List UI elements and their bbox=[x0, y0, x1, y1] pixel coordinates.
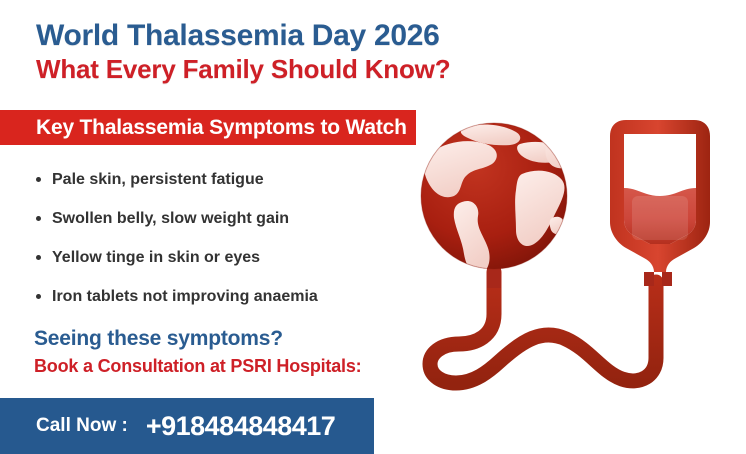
symptom-text: Iron tablets not improving anaemia bbox=[52, 288, 318, 305]
cta-question: Seeing these symptoms? bbox=[34, 327, 434, 351]
page-subtitle: What Every Family Should Know? bbox=[36, 55, 506, 84]
list-item: Yellow tinge in skin or eyes bbox=[34, 238, 414, 277]
globe-icon bbox=[421, 123, 580, 274]
symptoms-banner-label: Key Thalassemia Symptoms to Watch bbox=[0, 116, 407, 140]
illustration-svg bbox=[404, 96, 746, 396]
list-item: Pale skin, persistent fatigue bbox=[34, 160, 414, 199]
symptom-text: Swollen belly, slow weight gain bbox=[52, 210, 289, 227]
headline-block: World Thalassemia Day 2026 What Every Fa… bbox=[36, 20, 506, 83]
call-now-label: Call Now : bbox=[0, 415, 128, 437]
page-title: World Thalassemia Day 2026 bbox=[36, 20, 506, 52]
cta-block: Seeing these symptoms? Book a Consultati… bbox=[34, 327, 434, 378]
blood-tube-icon bbox=[430, 272, 656, 383]
symptom-text: Yellow tinge in skin or eyes bbox=[52, 249, 260, 266]
blood-bag-icon bbox=[610, 120, 710, 286]
blood-donation-illustration bbox=[404, 96, 746, 396]
symptom-text: Pale skin, persistent fatigue bbox=[52, 171, 264, 188]
list-item: Iron tablets not improving anaemia bbox=[34, 277, 414, 316]
list-item: Swollen belly, slow weight gain bbox=[34, 199, 414, 238]
phone-number-link[interactable]: +918484848417 bbox=[128, 411, 335, 442]
symptoms-section-banner: Key Thalassemia Symptoms to Watch bbox=[0, 110, 416, 145]
symptom-list: Pale skin, persistent fatigue Swollen be… bbox=[34, 160, 414, 316]
poster-canvas: World Thalassemia Day 2026 What Every Fa… bbox=[0, 0, 746, 454]
cta-booking-line: Book a Consultation at PSRI Hospitals: bbox=[34, 356, 434, 378]
call-now-bar[interactable]: Call Now : +918484848417 bbox=[0, 398, 374, 454]
